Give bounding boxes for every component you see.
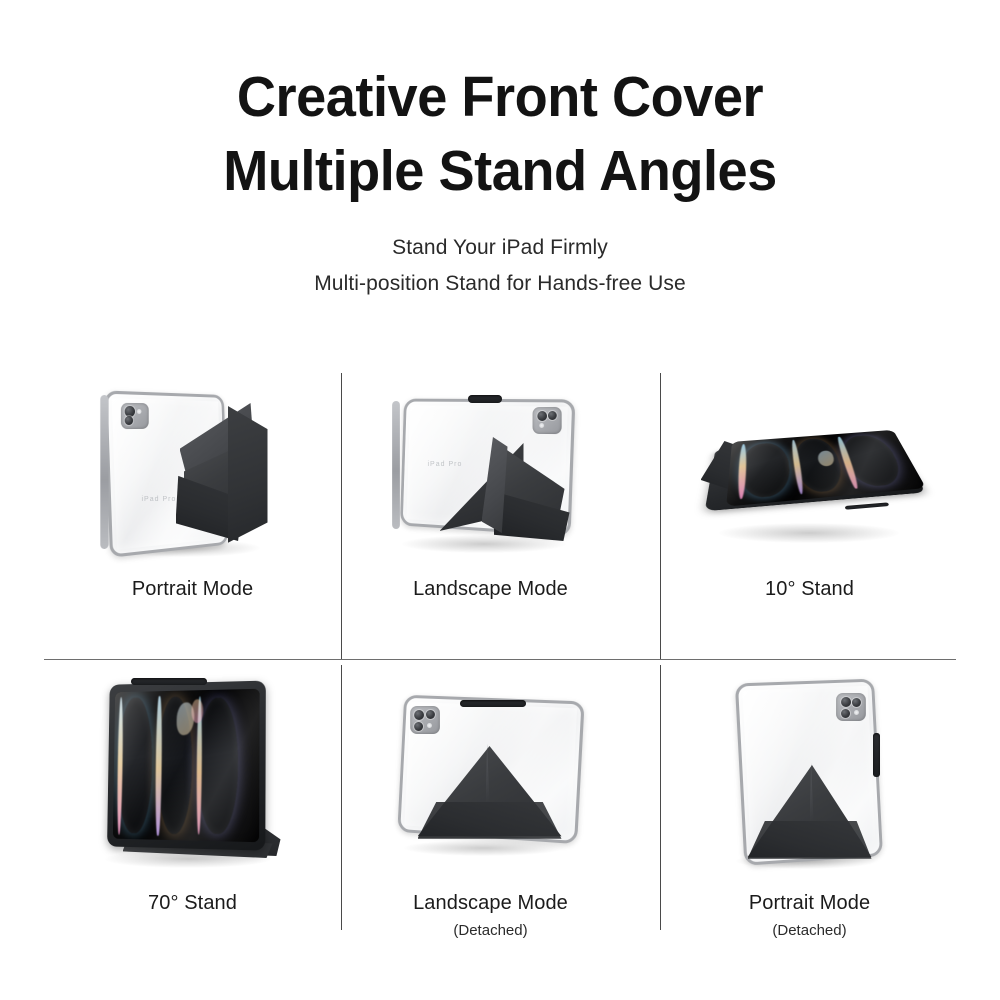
pencil-slot: [468, 395, 502, 403]
case-edge-rail: [392, 401, 400, 529]
tablet-screen: [112, 689, 259, 842]
stand-fold-panel: [228, 397, 268, 543]
grid-divider-horizontal: [44, 659, 956, 660]
cell-caption: 10° Stand: [661, 575, 958, 603]
product-photo-high-angle-stand: [44, 665, 341, 883]
camera-module-icon: [410, 706, 440, 734]
cell-caption: Landscape Mode: [342, 575, 639, 603]
product-photo-low-angle-stand: [661, 373, 958, 569]
brand-logo-ghost: iPad Pro: [142, 496, 177, 503]
page-title-line-1: Creative Front Cover: [25, 60, 975, 134]
caption-wrapper: Portrait Mode: [44, 575, 341, 603]
brand-logo-ghost: iPad Pro: [428, 461, 463, 468]
cell-subcaption: (Detached): [342, 919, 639, 943]
subtitle-block: Stand Your iPad Firmly Multi-position St…: [0, 230, 1000, 302]
stand-fold-panel: [748, 821, 872, 863]
grid-cell-portrait-mode: iPad Pro Portrait Mode: [44, 373, 341, 659]
caption-wrapper: 10° Stand: [661, 575, 958, 603]
product-feature-page: Creative Front Cover Multiple Stand Angl…: [0, 0, 1000, 1000]
pencil-slot: [460, 700, 526, 707]
stand-fold-panel: [418, 802, 562, 842]
caption-wrapper: Landscape Mode (Detached): [342, 889, 639, 943]
camera-module-icon: [532, 407, 561, 434]
header: Creative Front Cover Multiple Stand Angl…: [0, 0, 1000, 302]
product-photo-landscape-stand: iPad Pro: [342, 373, 639, 569]
grid-cell-70-degree-stand: 70° Stand: [44, 665, 341, 960]
subtitle-line-1: Stand Your iPad Firmly: [0, 230, 1000, 266]
grid-cell-landscape-detached: Landscape Mode (Detached): [342, 665, 639, 960]
cell-subcaption: (Detached): [661, 919, 958, 943]
camera-module-icon: [120, 403, 148, 429]
grid-cell-10-degree-stand: 10° Stand: [661, 373, 958, 659]
pencil-slot: [873, 733, 880, 777]
grid-cell-landscape-mode: iPad Pro Landscape Mode: [342, 373, 639, 659]
page-title-line-2: Multiple Stand Angles: [25, 134, 975, 208]
camera-module-icon: [836, 693, 866, 721]
cell-caption: Landscape Mode: [342, 889, 639, 917]
grid-cell-portrait-detached: Portrait Mode (Detached): [661, 665, 958, 960]
case-edge-rail: [100, 395, 108, 550]
caption-wrapper: Portrait Mode (Detached): [661, 889, 958, 943]
pencil-slot: [844, 502, 888, 509]
cell-caption: Portrait Mode: [44, 575, 341, 603]
caption-wrapper: 70° Stand: [44, 889, 341, 917]
screen-glare: [112, 689, 259, 842]
screen-glare: [726, 430, 926, 507]
subtitle-line-2: Multi-position Stand for Hands-free Use: [0, 266, 1000, 302]
tablet-screen: [726, 430, 926, 507]
product-photo-portrait-detached: [661, 665, 958, 883]
caption-wrapper: Landscape Mode: [342, 575, 639, 603]
cell-caption: 70° Stand: [44, 889, 341, 917]
cell-caption: Portrait Mode: [661, 889, 958, 917]
stand-modes-grid: iPad Pro Portrait Mode: [44, 373, 956, 960]
pencil-slot: [131, 678, 207, 685]
product-photo-landscape-detached: [342, 665, 639, 883]
product-photo-portrait-stand: iPad Pro: [44, 373, 341, 569]
